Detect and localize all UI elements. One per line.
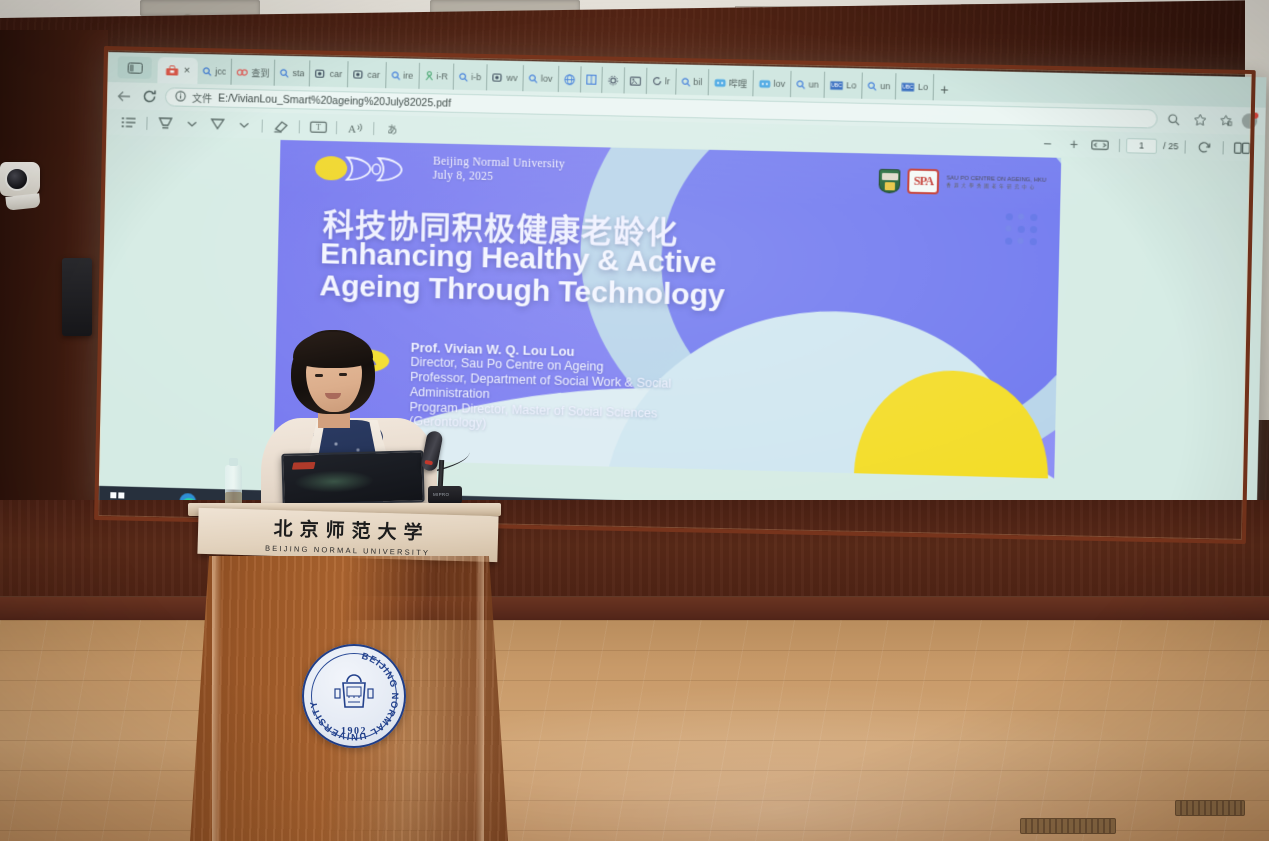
highlighter-dropdown-icon[interactable]	[179, 114, 203, 135]
gear-icon	[607, 74, 618, 85]
toc-icon[interactable]	[116, 112, 140, 133]
page-view-icon[interactable]	[1230, 137, 1255, 158]
search-icon	[681, 77, 690, 86]
seal-emblem-icon	[334, 671, 374, 713]
ceiling-panel	[140, 0, 260, 16]
spa-text-cn: 香 港 大 學 秀 圃 老 年 研 究 中 心	[946, 183, 1046, 192]
page-icon	[353, 69, 364, 79]
spa-logo-text: SAU PO CENTRE ON AGEING, HKU 香 港 大 學 秀 圃…	[946, 175, 1046, 192]
text-box-icon[interactable]: T	[306, 116, 331, 137]
floor-vent	[1175, 800, 1245, 816]
browser-tab[interactable]	[581, 66, 603, 93]
browser-tab[interactable]: 哔哩	[708, 69, 753, 96]
browser-tab[interactable]: un	[791, 71, 825, 98]
browser-tab[interactable]	[602, 67, 625, 94]
browser-tab[interactable]: ×	[157, 57, 198, 84]
tab-label: Lo	[846, 80, 856, 90]
spa-logo-label: SPA	[909, 171, 937, 193]
page-icon	[315, 69, 326, 79]
browser-tab[interactable]: un	[862, 73, 896, 100]
browser-tab[interactable]: lr	[646, 68, 676, 95]
hku-shield-icon	[879, 168, 901, 193]
ubc-icon: UBC	[830, 80, 843, 89]
tab-label: un	[880, 81, 890, 91]
browser-tab[interactable]: bil	[676, 68, 709, 95]
slide-logo-group: SPA SAU PO CENTRE ON AGEING, HKU 香 港 大 學…	[879, 168, 1047, 197]
svg-text:UBC: UBC	[831, 83, 842, 89]
browser-tab[interactable]: 查到	[232, 59, 276, 86]
slide-title-english: Enhancing Healthy & Active Ageing Throug…	[319, 238, 726, 313]
browser-tab[interactable]	[624, 67, 647, 94]
tab-label: wv	[506, 73, 517, 83]
presenter-details: Prof. Vivian W. Q. Lou Lou Director, Sau…	[409, 340, 918, 443]
tab-label: car	[330, 69, 343, 79]
ubc-icon: UBC	[901, 82, 914, 91]
slide-header-line2: July 8, 2025	[433, 169, 565, 187]
browser-tab[interactable]: lov	[523, 65, 558, 92]
draw-dropdown-icon[interactable]	[231, 115, 256, 136]
tab-label: 哔哩	[729, 76, 748, 90]
podium-nameplate: 北京师范大学 BEIJING NORMAL UNIVERSITY	[197, 508, 498, 562]
image-icon	[629, 76, 640, 85]
slide-brand-mark-icon	[314, 153, 421, 186]
search-icon	[529, 74, 538, 83]
svg-text:UBC: UBC	[903, 84, 914, 90]
fit-page-icon[interactable]	[1088, 134, 1113, 155]
page-number-input[interactable]: 1	[1126, 138, 1157, 154]
zoom-out-button[interactable]: −	[1035, 133, 1060, 154]
link-icon	[237, 67, 248, 76]
wall-speaker	[62, 258, 92, 336]
search-icon	[459, 72, 468, 81]
tab-label: i-R	[436, 71, 448, 81]
browser-tab[interactable]: car	[348, 61, 386, 88]
reload-icon[interactable]	[140, 87, 158, 105]
slide-dot-grid-decoration	[1005, 213, 1037, 245]
tab-label: lov	[541, 74, 553, 84]
info-circle-icon[interactable]	[175, 90, 186, 104]
page-icon	[492, 72, 503, 82]
seal-year: 1902	[302, 726, 406, 737]
search-icon	[868, 81, 877, 90]
tab-label: Lo	[918, 82, 928, 92]
sidebar-icon[interactable]	[117, 56, 151, 79]
browser-tab[interactable]: ire	[386, 62, 420, 89]
svg-text:T: T	[315, 123, 320, 132]
browser-tab[interactable]: lov	[753, 70, 792, 97]
draw-icon[interactable]	[205, 114, 229, 135]
browser-tab[interactable]: UBCLo	[896, 73, 934, 100]
video-icon	[758, 78, 770, 88]
rotate-icon[interactable]	[1192, 137, 1217, 158]
profile-avatar-icon[interactable]	[1242, 113, 1258, 129]
toolbox-icon	[166, 65, 179, 76]
podium-nameplate-chinese: 北京师范大学	[266, 513, 430, 545]
search-icon	[796, 80, 805, 89]
zoom-in-button[interactable]: +	[1061, 134, 1086, 155]
back-arrow-icon[interactable]	[115, 87, 133, 105]
video-icon	[713, 77, 725, 87]
tab-label: un	[809, 79, 819, 89]
tab-label: car	[367, 70, 380, 80]
read-aloud-icon[interactable]: A	[343, 117, 368, 138]
spa-logo-icon: SPA	[907, 168, 939, 194]
tab-label: sta	[292, 68, 304, 78]
browser-tab[interactable]: i-b	[454, 64, 488, 91]
svg-text:A: A	[348, 123, 356, 134]
tab-label: lov	[773, 79, 785, 89]
close-tab-button[interactable]: ×	[184, 65, 191, 77]
slide-header: Beijing Normal University July 8, 2025	[433, 155, 566, 187]
tab-label: i-b	[471, 72, 481, 82]
star-icon[interactable]	[1190, 111, 1209, 130]
tab-label: jcc	[215, 66, 226, 76]
ptz-camera-icon	[0, 162, 42, 214]
lectern-podium: 北京师范大学 BEIJING NORMAL UNIVERSITY BEIJING…	[180, 500, 510, 841]
collections-icon[interactable]	[1216, 111, 1235, 130]
search-icon[interactable]	[1165, 110, 1184, 129]
eraser-icon[interactable]	[269, 116, 294, 137]
browser-tab[interactable]: sta	[275, 60, 311, 87]
translate-icon[interactable]: あ	[380, 118, 405, 139]
url-scheme-label: 文件	[192, 90, 212, 105]
tab-label: bil	[693, 77, 702, 87]
browser-tab[interactable]: UBCLo	[825, 72, 863, 99]
laptop-icon	[281, 450, 424, 506]
tab-label: lr	[665, 76, 670, 86]
tab-label: 查到	[251, 66, 269, 79]
globe-icon	[564, 74, 575, 85]
university-seal: BEIJING NORMAL UNIVERSITY 1902	[302, 644, 406, 748]
person-icon	[424, 71, 433, 81]
highlighter-icon[interactable]	[153, 113, 177, 134]
browser-tab[interactable]: i-R	[419, 63, 454, 90]
page-total-label: / 25	[1163, 141, 1179, 151]
search-icon	[391, 71, 400, 80]
browser-tab[interactable]: jcc	[198, 58, 233, 85]
browser-tab[interactable]: wv	[487, 64, 524, 91]
browser-tab[interactable]: car	[310, 60, 348, 87]
grid-icon	[586, 75, 596, 85]
tab-label: ire	[403, 70, 413, 80]
floor-vent	[1020, 818, 1116, 834]
browser-tab[interactable]	[558, 66, 581, 93]
refresh-icon	[652, 76, 662, 86]
search-icon	[280, 68, 289, 77]
podium-nameplate-english: BEIJING NORMAL UNIVERSITY	[265, 543, 430, 557]
search-icon	[203, 67, 212, 76]
lecture-hall-scene: × jcc 查到 sta car car ire i-R i-b wv lov …	[0, 0, 1269, 841]
url-text: E:/VivianLou_Smart%20ageing%20July82025.…	[218, 92, 451, 109]
new-tab-button[interactable]: +	[934, 81, 955, 101]
